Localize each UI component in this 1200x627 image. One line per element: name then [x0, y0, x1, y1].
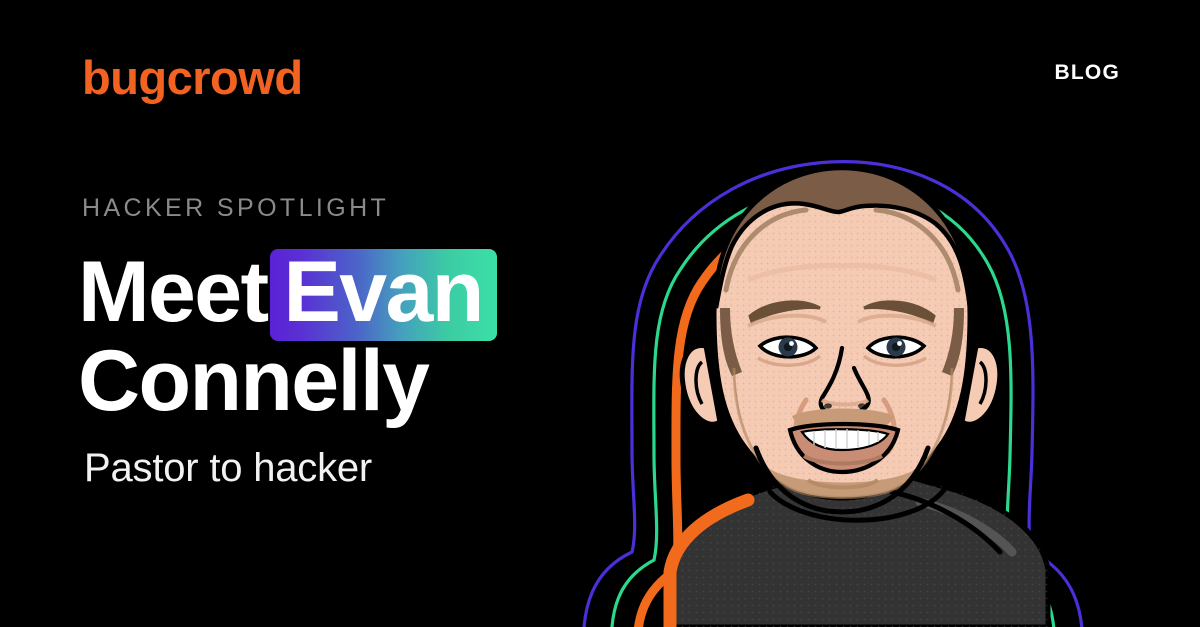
portrait-svg	[520, 100, 1200, 627]
headline-highlight-evan: Evan	[270, 249, 497, 341]
page-title: MeetEvan Connelly	[78, 246, 497, 430]
portrait-illustration	[520, 100, 1200, 627]
headline-line-2: Connelly	[78, 335, 497, 430]
headline-word-meet: Meet	[78, 244, 268, 340]
blog-label: BLOG	[1055, 62, 1120, 83]
eyebrow-hacker-spotlight: HACKER SPOTLIGHT	[82, 196, 389, 221]
hero-banner: bugcrowd BLOG HACKER SPOTLIGHT MeetEvan …	[0, 0, 1200, 627]
subhead-tagline: Pastor to hacker	[84, 448, 372, 488]
headline-line-1: MeetEvan	[78, 246, 497, 341]
bugcrowd-logo[interactable]: bugcrowd	[82, 54, 303, 101]
